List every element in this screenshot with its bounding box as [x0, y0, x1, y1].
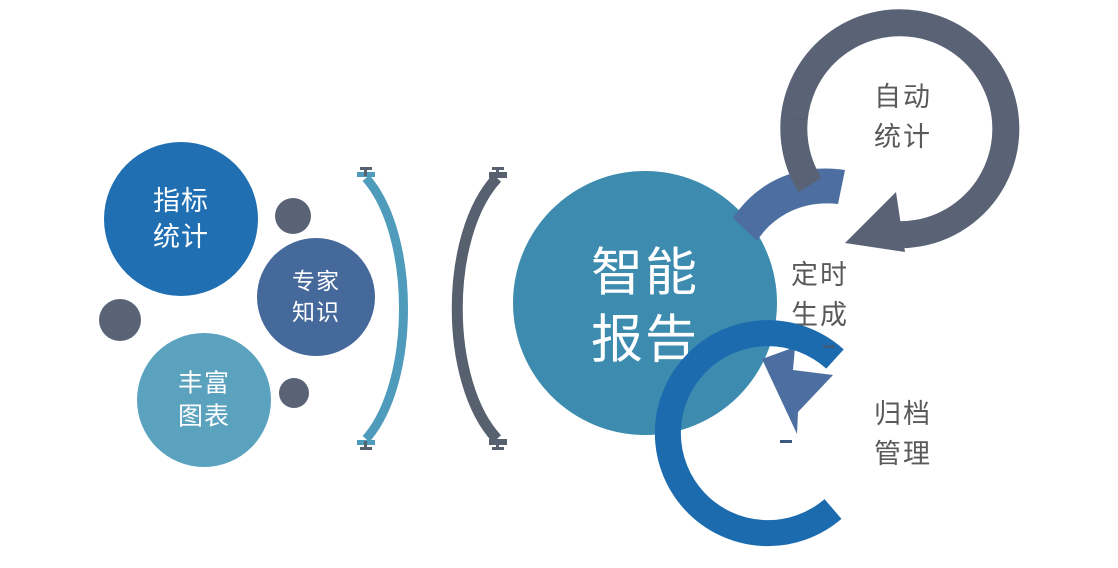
ring-auto-stats-label-line1: 自动	[874, 82, 932, 112]
bubble-expert[interactable]: 专家 知识	[257, 238, 375, 356]
bubble-metrics-circle[interactable]	[104, 142, 258, 296]
ring-auto-stats-label-line2: 统计	[874, 122, 932, 152]
center-node-circle[interactable]	[513, 171, 777, 435]
bubble-expert-label-line2: 知识	[292, 299, 340, 325]
decorative-dot-lower-icon	[279, 378, 309, 408]
center-node[interactable]: 智能 报告	[513, 171, 777, 435]
label-scheduled-generate-line1: 定时	[791, 260, 849, 290]
bubble-metrics-label-line1: 指标	[153, 186, 209, 216]
bubble-expert-label-line1: 专家	[292, 268, 340, 294]
bracket-right-arc-path	[457, 178, 497, 439]
bracket-right-arc	[457, 167, 507, 450]
ring-archive[interactable]: 归档 管理	[668, 333, 932, 533]
arrow-scheduled-upper	[733, 168, 845, 241]
ring-archive-handle-bottom-icon	[780, 440, 792, 443]
ring-auto-stats-handle-icon	[795, 118, 805, 121]
ring-archive-label-line2: 管理	[874, 439, 932, 469]
bubble-charts[interactable]: 丰富 图表	[137, 333, 271, 467]
arrow-scheduled-upper-band	[733, 168, 845, 241]
bubble-metrics-label-line2: 统计	[153, 222, 209, 252]
ring-archive-handle-top-icon	[823, 345, 835, 348]
bubble-charts-label-line2: 图表	[178, 403, 230, 431]
bubble-charts-circle[interactable]	[137, 333, 271, 467]
center-node-label-line1: 智能	[591, 245, 699, 303]
bubble-metrics[interactable]: 指标 统计	[104, 142, 258, 296]
ring-archive-label-line1: 归档	[874, 399, 932, 429]
ring-auto-stats-arrowhead-icon	[845, 192, 905, 252]
decorative-dot-left-icon	[99, 299, 141, 341]
ring-auto-stats[interactable]: 自动 统计	[794, 23, 1006, 252]
bubble-expert-circle[interactable]	[257, 238, 375, 356]
label-scheduled-generate: 定时 生成	[791, 260, 849, 330]
bubble-charts-label-line1: 丰富	[178, 370, 230, 398]
decorative-dot-upper-icon	[275, 198, 311, 234]
diagram-canvas: 指标 统计 专家 知识 丰富 图表	[0, 0, 1118, 568]
diagram-svg: 指标 统计 专家 知识 丰富 图表	[0, 0, 1118, 568]
